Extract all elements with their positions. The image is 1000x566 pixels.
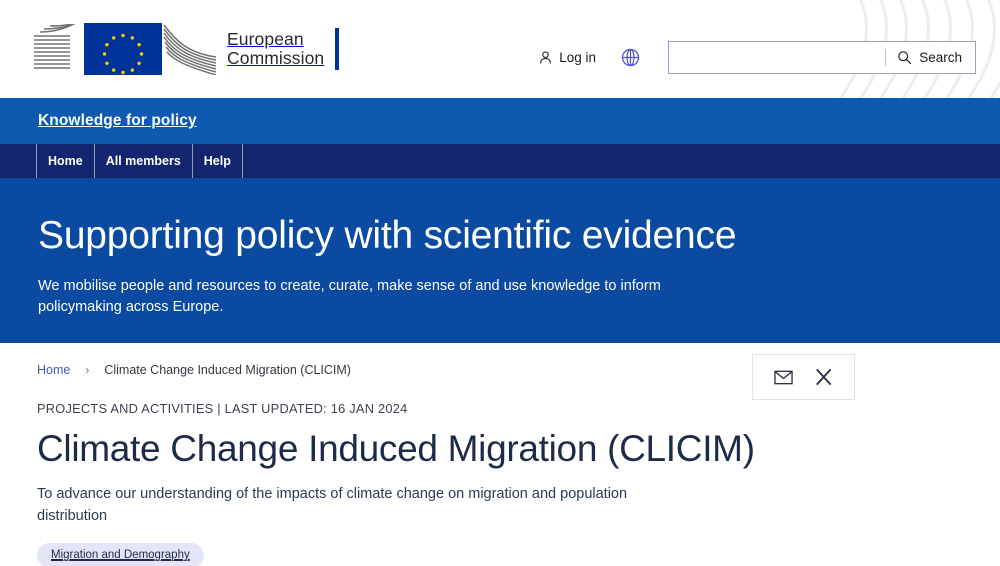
- site-name-bar: Knowledge for policy: [0, 98, 1000, 144]
- user-icon: [538, 50, 553, 65]
- hero-title: Supporting policy with scientific eviden…: [38, 214, 964, 258]
- x-twitter-icon: [815, 368, 833, 386]
- nav-item-all-members[interactable]: All members: [94, 144, 192, 178]
- email-icon: [774, 370, 793, 385]
- page-content: Home › Climate Change Induced Migration …: [0, 343, 1000, 566]
- logo-fan-left-icon: [30, 24, 84, 74]
- site-header: European Commission Log in: [0, 0, 1000, 98]
- site-title-link[interactable]: Knowledge for policy: [38, 112, 197, 130]
- share-x-button[interactable]: [815, 368, 833, 386]
- page-lede: To advance our understanding of the impa…: [37, 484, 677, 527]
- hero-banner: Supporting policy with scientific eviden…: [0, 178, 1000, 343]
- logo-accent-bar: [335, 28, 339, 70]
- search-button[interactable]: Search: [886, 42, 975, 73]
- nav-list: Home All members Help: [36, 144, 243, 178]
- main-navigation: Home All members Help: [0, 144, 1000, 178]
- logo-line-1: European: [227, 29, 304, 49]
- search-input[interactable]: [669, 42, 885, 73]
- breadcrumb-home[interactable]: Home: [37, 363, 70, 377]
- login-button[interactable]: Log in: [538, 50, 596, 65]
- tag-list: Migration and Demography: [37, 543, 964, 566]
- european-commission-logo[interactable]: European Commission: [30, 21, 339, 77]
- login-label: Log in: [559, 50, 596, 65]
- search-icon: [897, 50, 912, 65]
- nav-item-home[interactable]: Home: [36, 144, 94, 178]
- tag-label: Migration and Demography: [51, 549, 190, 561]
- globe-icon[interactable]: [618, 46, 642, 70]
- page-root: European Commission Log in: [0, 0, 1000, 566]
- search-box: Search: [668, 41, 976, 74]
- share-email-button[interactable]: [774, 370, 793, 385]
- logo-line-2: Commission: [227, 48, 324, 68]
- logo-wordmark: European Commission: [227, 30, 324, 69]
- nav-trailing-divider: [242, 144, 243, 178]
- breadcrumb-current: Climate Change Induced Migration (CLICIM…: [104, 363, 351, 377]
- tag-migration-and-demography[interactable]: Migration and Demography: [37, 543, 204, 566]
- share-toolbar: [752, 354, 855, 400]
- header-actions: Log in Search: [538, 41, 976, 74]
- content-meta: PROJECTS AND ACTIVITIES | LAST UPDATED: …: [37, 401, 964, 416]
- search-button-label: Search: [919, 50, 962, 65]
- page-title: Climate Change Induced Migration (CLICIM…: [37, 427, 964, 471]
- hero-subtitle: We mobilise people and resources to crea…: [38, 276, 718, 318]
- logo-fan-right-icon: [162, 23, 218, 75]
- breadcrumb-chevron-right-icon: ›: [85, 363, 89, 377]
- nav-item-help[interactable]: Help: [192, 144, 242, 178]
- globe-glyph: [620, 47, 641, 68]
- eu-flag-icon: [84, 23, 162, 75]
